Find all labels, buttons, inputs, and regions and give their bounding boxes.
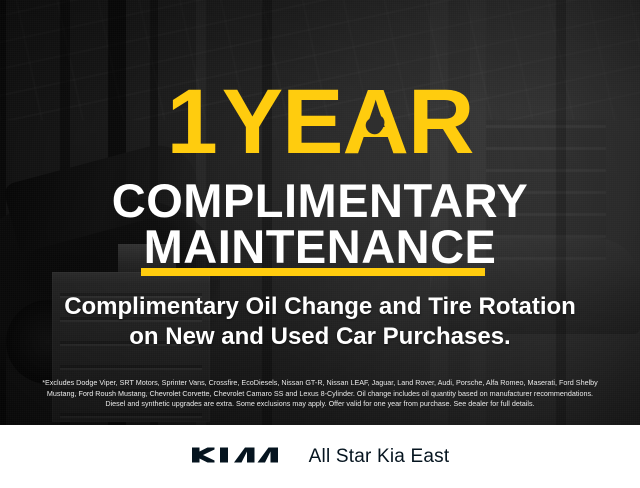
disclaimer-line-2: Mustang, Ford Roush Mustang, Chevrolet C… <box>16 389 624 400</box>
headline-year-word-post: R <box>408 71 473 173</box>
headline-maintenance: MAINTENANCE <box>0 222 640 272</box>
dealer-name: All Star Kia East <box>309 446 450 468</box>
headline-year-word-pre: YE <box>222 71 343 173</box>
promotional-banner: 1YEAR COMPLIMENTARY MAINTENANCE Complime… <box>0 0 640 488</box>
subheading-line-1: Complimentary Oil Change and Tire Rotati… <box>0 292 640 321</box>
footer-inner: All Star Kia East <box>191 445 450 469</box>
disclaimer-line-3: Diesel and synthetic upgrades are extra.… <box>16 399 624 410</box>
headline-year-number: 1 <box>167 71 222 173</box>
disclaimer-text: *Excludes Dodge Viper, SRT Motors, Sprin… <box>16 378 624 410</box>
headline-year: 1YEAR <box>0 76 640 168</box>
headline-year-letter-a: A <box>343 76 408 168</box>
banner-content: 1YEAR COMPLIMENTARY MAINTENANCE Complime… <box>0 0 640 425</box>
kia-logo <box>191 445 283 469</box>
subheading-line-2: on New and Used Car Purchases. <box>0 322 640 351</box>
yellow-divider-bar <box>141 268 485 276</box>
disclaimer-line-1: *Excludes Dodge Viper, SRT Motors, Sprin… <box>16 378 624 389</box>
footer-bar: All Star Kia East <box>0 425 640 488</box>
headline-complimentary: COMPLIMENTARY <box>0 176 640 226</box>
